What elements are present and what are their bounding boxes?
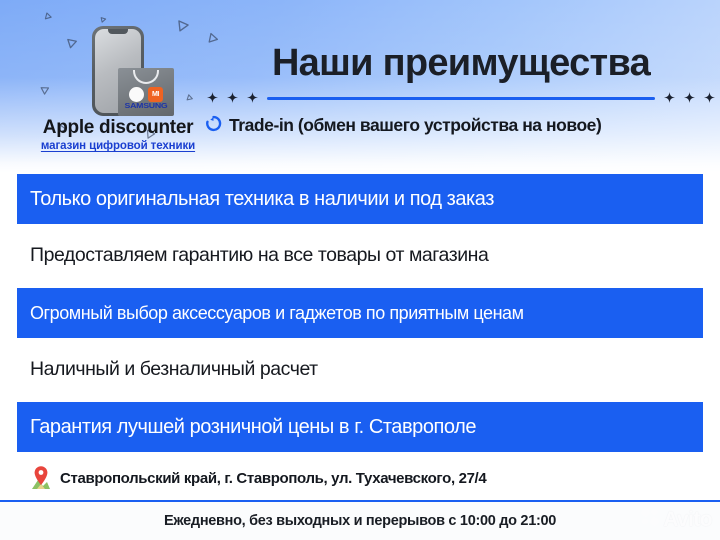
benefit-text: Предоставляем гарантию на все товары от … — [30, 246, 488, 266]
subtitle: Trade-in (обмен вашего устройства на нов… — [229, 115, 601, 136]
samsung-logo-text: SAMSUNG — [111, 103, 181, 110]
benefit-text: Гарантия лучшей розничной цены в г. Став… — [30, 417, 476, 437]
brand-name: Apple discounter — [18, 117, 218, 139]
map-pin-icon — [30, 465, 52, 491]
sparkles-left — [207, 90, 258, 108]
header-section: Наши преимущества — [205, 44, 717, 137]
title-divider — [205, 90, 717, 108]
sparkle-star-icon — [247, 90, 258, 108]
sparkle-star-icon — [704, 90, 715, 108]
divider-line — [267, 97, 655, 100]
page-title: Наши преимущества — [205, 44, 717, 84]
address-row: Ставропольский край, г. Ставрополь, ул. … — [30, 465, 486, 491]
brand-tagline: магазин цифровой техники — [18, 140, 218, 152]
phone-notch — [108, 29, 128, 34]
benefit-row: Только оригинальная техника в наличии и … — [0, 170, 720, 227]
benefit-row: Гарантия лучшей розничной цены в г. Став… — [0, 398, 720, 455]
benefits-list: Только оригинальная техника в наличии и … — [0, 170, 720, 455]
advertisement-poster: MI SAMSUNG Apple discounter магазин цифр… — [0, 0, 720, 540]
brand-logo-block: MI SAMSUNG Apple discounter магазин цифр… — [18, 24, 218, 152]
sparkles-right — [664, 90, 715, 108]
benefit-text: Только оригинальная техника в наличии и … — [30, 189, 494, 209]
sparkle-star-icon — [207, 90, 218, 108]
address-text: Ставропольский край, г. Ставрополь, ул. … — [60, 470, 486, 487]
shopping-bag-icon: MI SAMSUNG — [118, 68, 174, 116]
trade-in-refresh-icon — [205, 115, 222, 137]
opening-hours-text: Ежедневно, без выходных и перерывов с 10… — [164, 513, 556, 529]
benefit-row: Огромный выбор аксессуаров и гаджетов по… — [0, 284, 720, 341]
apple-logo-icon — [129, 87, 144, 102]
bag-handle — [133, 70, 159, 84]
benefit-text: Наличный и безналичный расчет — [30, 360, 318, 380]
mi-logo-icon: MI — [148, 87, 163, 102]
footer-bar: Ежедневно, без выходных и перерывов с 10… — [0, 502, 720, 540]
sparkle-star-icon — [664, 90, 675, 108]
benefit-text: Огромный выбор аксессуаров и гаджетов по… — [30, 304, 524, 322]
device-artwork: MI SAMSUNG — [18, 24, 218, 116]
benefit-row: Наличный и безналичный расчет — [0, 341, 720, 398]
sparkle-star-icon — [684, 90, 695, 108]
sparkle-star-icon — [227, 90, 238, 108]
benefit-row: Предоставляем гарантию на все товары от … — [0, 227, 720, 284]
subtitle-row: Trade-in (обмен вашего устройства на нов… — [205, 115, 717, 137]
